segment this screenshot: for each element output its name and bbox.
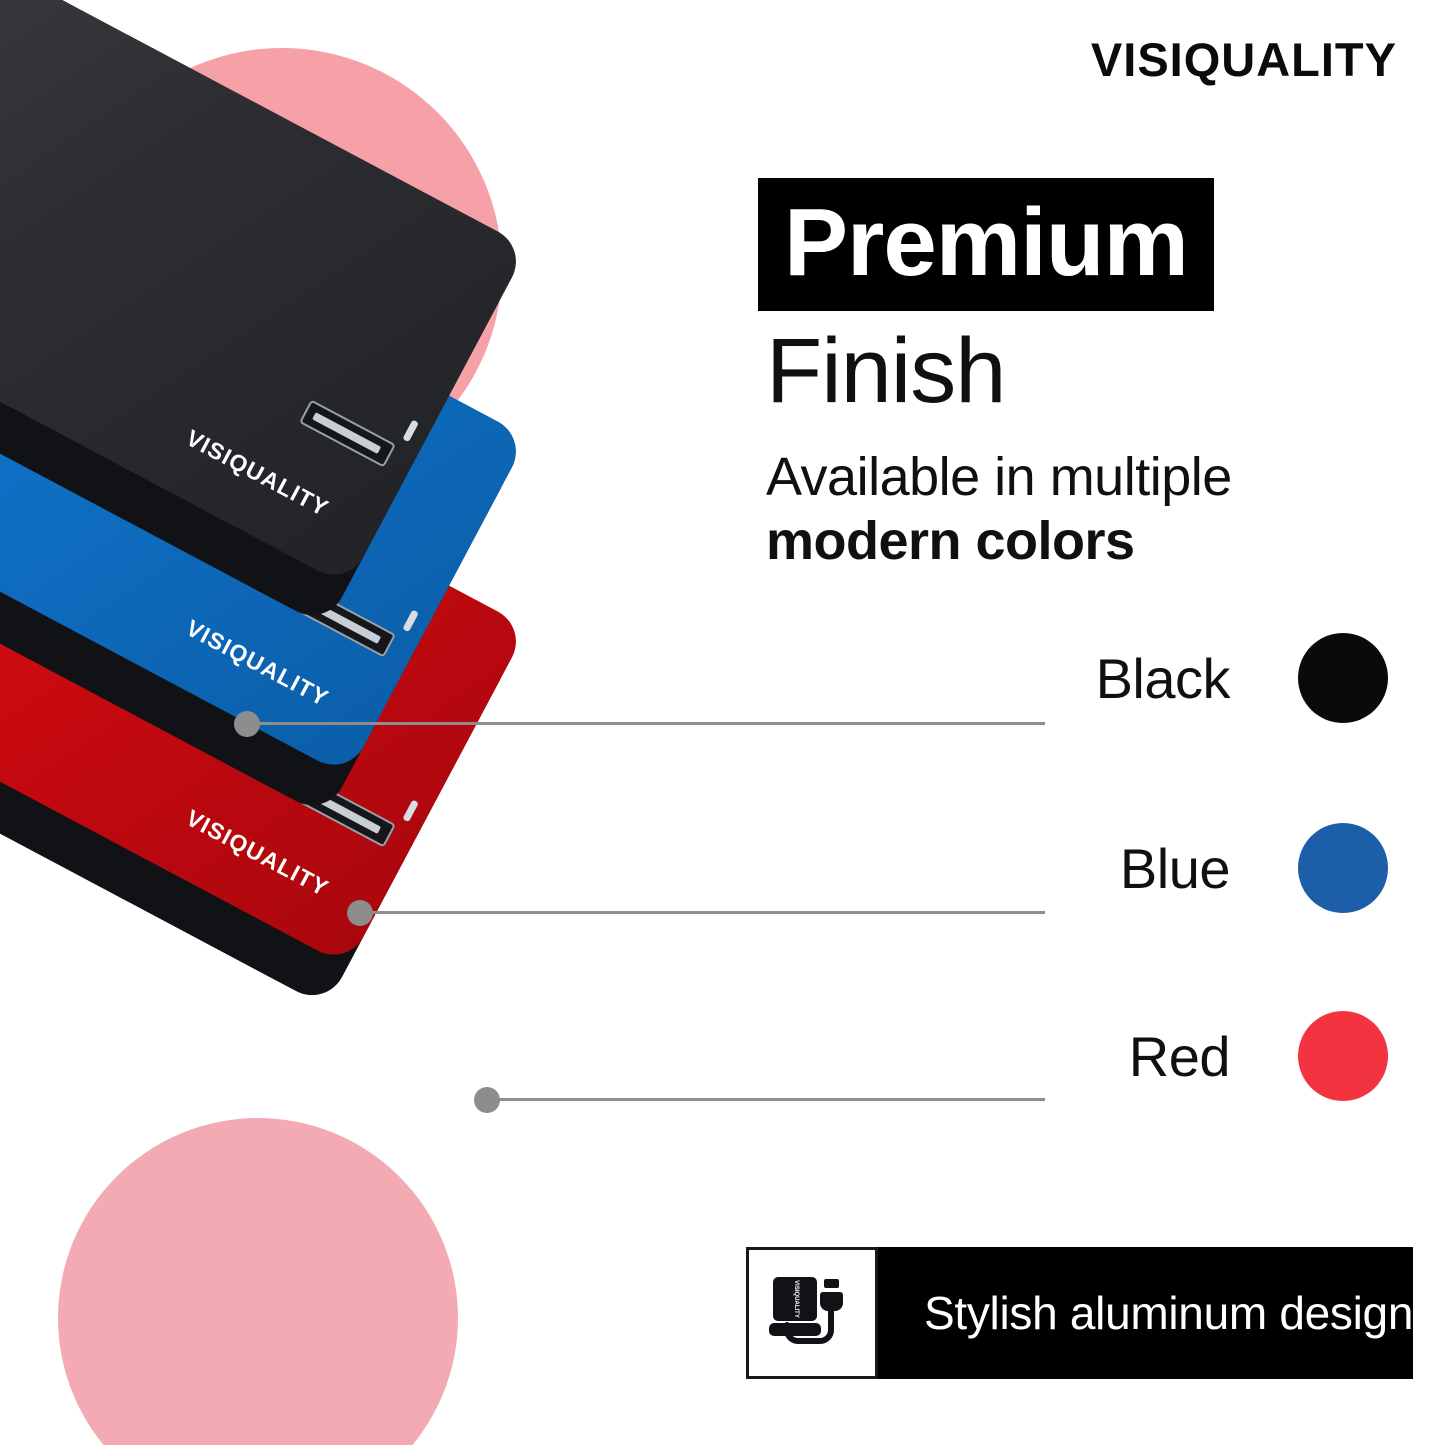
pink-circle-decor-bottom (58, 1118, 458, 1445)
external-drive-usb-cable-icon: VISIQUALITY (746, 1247, 878, 1379)
color-swatch-red (1298, 1011, 1388, 1101)
color-option-black: Black (810, 628, 1230, 728)
feature-bar: VISIQUALITY Stylish aluminum design (746, 1247, 1360, 1379)
headline-block: Premium Finish (758, 178, 1214, 421)
drive-brand-mark: VISIQUALITY (182, 424, 334, 522)
subheading-line-1: Available in multiple (766, 446, 1232, 510)
color-option-red: Red (810, 1006, 1230, 1106)
color-swatch-black (1298, 633, 1388, 723)
drive-brand-mark: VISIQUALITY (182, 614, 334, 712)
headline-premium: Premium (758, 178, 1214, 311)
leader-dot-blue (347, 900, 373, 926)
color-swatch-blue (1298, 823, 1388, 913)
subheading-line-2: modern colors (766, 510, 1232, 574)
color-label-blue: Blue (1120, 836, 1230, 901)
leader-dot-black (234, 711, 260, 737)
headline-finish: Finish (758, 323, 1214, 421)
color-option-blue: Blue (810, 818, 1230, 918)
leader-dot-red (474, 1087, 500, 1113)
brand-logo: VISIQUALITY (1091, 32, 1397, 87)
color-label-red: Red (1129, 1024, 1230, 1089)
subheading-block: Available in multiple modern colors (766, 446, 1232, 573)
feature-text: Stylish aluminum design (924, 1286, 1413, 1340)
drive-brand-mark: VISIQUALITY (182, 804, 334, 902)
product-infographic: VISIQUALITY VISIQUALITY VISIQUALITY (0, 0, 1445, 1445)
svg-text:VISIQUALITY: VISIQUALITY (793, 1280, 799, 1318)
feature-text-tile: Stylish aluminum design (878, 1247, 1413, 1379)
color-label-black: Black (1096, 646, 1230, 711)
